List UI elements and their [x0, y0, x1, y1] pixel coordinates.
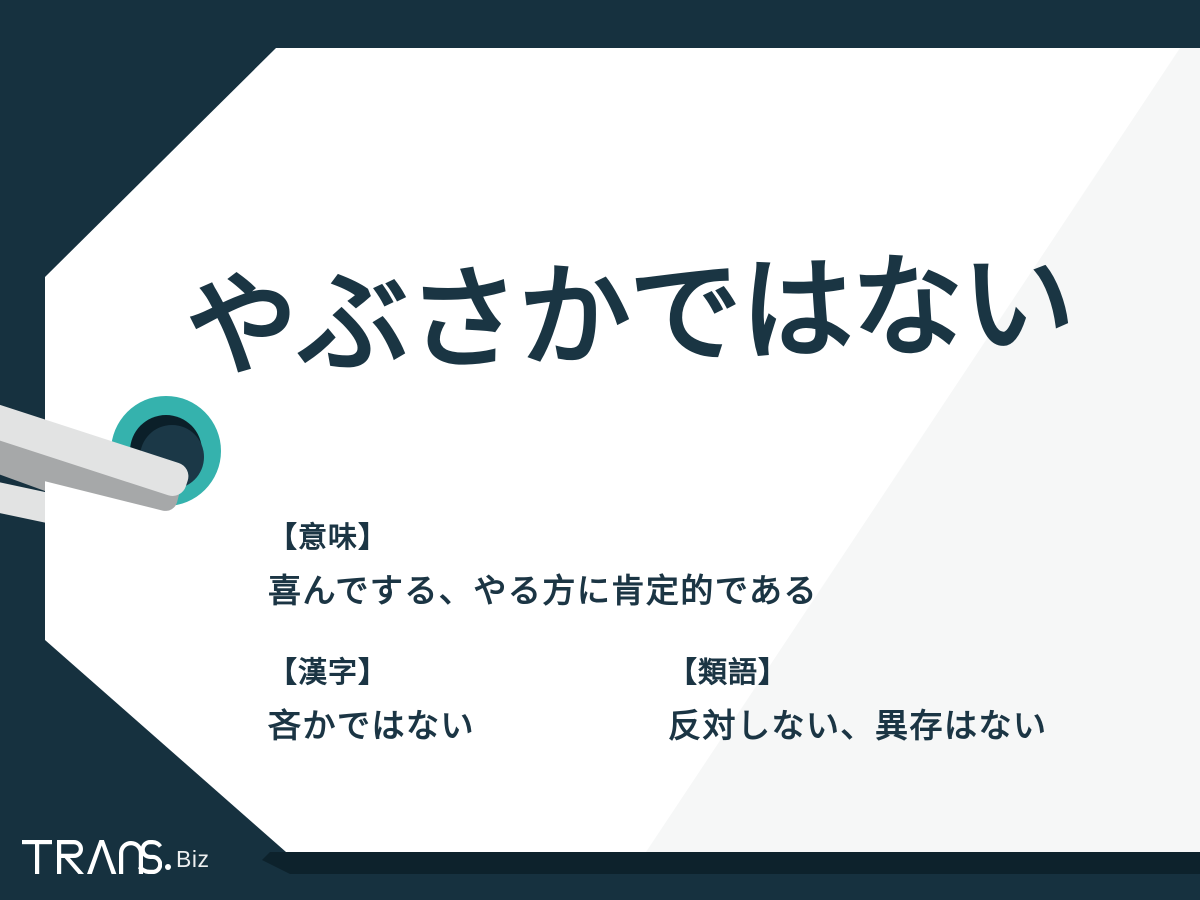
secondary-sections: 【漢字】 吝かではない 【類語】 反対しない、異存はない	[268, 659, 1168, 742]
definition-block: 【意味】 喜んでする、やる方に肯定的である 【漢字】 吝かではない 【類語】 反…	[268, 524, 1168, 742]
trans-wordmark-icon	[22, 840, 162, 874]
slide-canvas: やぶさかではない 【意味】 喜んでする、やる方に肯定的である 【漢字】 吝かでは…	[0, 0, 1200, 900]
section-synonyms: 【類語】 反対しない、異存はない	[668, 659, 1148, 742]
section-meaning: 【意味】 喜んでする、やる方に肯定的である	[268, 524, 1168, 607]
kanji-value: 吝かではない	[268, 709, 668, 742]
brand-logo[interactable]: Biz	[22, 840, 209, 874]
logo-suffix: Biz	[176, 846, 209, 874]
meaning-value: 喜んでする、やる方に肯定的である	[268, 574, 1168, 607]
synonyms-label: 【類語】	[668, 659, 1148, 688]
meaning-label: 【意味】	[268, 524, 1168, 553]
kanji-label: 【漢字】	[268, 659, 668, 688]
section-kanji: 【漢字】 吝かではない	[268, 659, 668, 742]
logo-dot-icon	[165, 864, 171, 870]
synonyms-value: 反対しない、異存はない	[668, 709, 1148, 742]
